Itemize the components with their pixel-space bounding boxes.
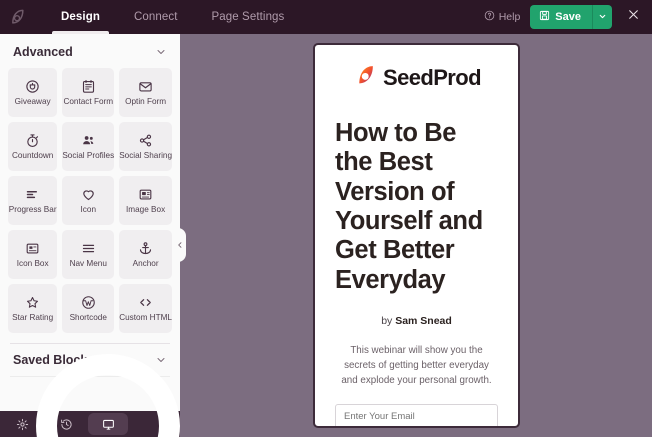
tab-page-settings[interactable]: Page Settings bbox=[195, 0, 302, 34]
section-saved-blocks-header[interactable]: Saved Blocks bbox=[0, 344, 180, 376]
gear-settings-icon[interactable] bbox=[0, 411, 44, 437]
block-label: Icon bbox=[81, 206, 96, 214]
seedprod-leaf-logo-icon[interactable] bbox=[0, 0, 34, 34]
top-toolbar: Design Connect Page Settings Help bbox=[0, 0, 652, 34]
byline-author: Sam Snead bbox=[395, 315, 452, 327]
block-label: Star Rating bbox=[12, 314, 53, 322]
chevron-down-icon bbox=[598, 8, 607, 26]
seedprod-leaf-gradient-icon bbox=[352, 63, 377, 93]
main-tabs: Design Connect Page Settings bbox=[44, 0, 301, 34]
close-builder-button[interactable] bbox=[622, 4, 644, 30]
contact-form-icon bbox=[81, 79, 96, 94]
star-icon bbox=[25, 295, 40, 310]
tab-page-settings-label: Page Settings bbox=[212, 11, 285, 23]
anchor-icon bbox=[138, 241, 153, 256]
block-label: Social Profiles bbox=[62, 152, 114, 160]
byline-prefix: by bbox=[381, 315, 395, 327]
share-icon bbox=[138, 133, 153, 148]
tab-connect[interactable]: Connect bbox=[117, 0, 195, 34]
help-label: Help bbox=[499, 11, 521, 23]
desktop-view-icon[interactable] bbox=[88, 413, 128, 435]
block-label: Image Box bbox=[126, 206, 165, 214]
save-button[interactable]: Save bbox=[530, 5, 592, 29]
section-advanced-header[interactable]: Advanced bbox=[0, 34, 180, 68]
toolbar-actions: Help Save bbox=[484, 0, 652, 34]
tab-design-label: Design bbox=[61, 11, 100, 23]
block-label: Countdown bbox=[12, 152, 53, 160]
block-label: Optin Form bbox=[125, 98, 166, 106]
block-image-box[interactable]: Image Box bbox=[119, 176, 172, 225]
preview-subcopy[interactable]: This webinar will show you the secrets o… bbox=[335, 343, 498, 389]
block-social-sharing[interactable]: Social Sharing bbox=[119, 122, 172, 171]
image-box-icon bbox=[138, 187, 153, 202]
block-label: Nav Menu bbox=[70, 260, 107, 268]
advanced-blocks-grid: Giveaway Contact Form bbox=[0, 68, 180, 333]
tab-connect-label: Connect bbox=[134, 11, 178, 23]
saved-blocks-separator bbox=[10, 376, 170, 377]
block-label: Contact Form bbox=[63, 98, 113, 106]
block-shortcode[interactable]: Shortcode bbox=[62, 284, 114, 333]
progress-bar-icon bbox=[25, 187, 40, 202]
block-custom-html[interactable]: Custom HTML bbox=[119, 284, 172, 333]
section-advanced-title: Advanced bbox=[13, 45, 73, 59]
close-x-icon bbox=[627, 8, 640, 26]
sidebar-collapse-handle[interactable] bbox=[173, 228, 186, 262]
chevron-down-icon[interactable] bbox=[155, 354, 167, 366]
block-nav-menu[interactable]: Nav Menu bbox=[62, 230, 114, 279]
save-disk-icon bbox=[539, 10, 550, 24]
chevron-down-icon[interactable] bbox=[155, 46, 167, 58]
preview-canvas[interactable]: SeedProd How to Be the Best Version of Y… bbox=[180, 34, 652, 437]
heart-icon bbox=[81, 187, 96, 202]
save-label: Save bbox=[555, 11, 581, 23]
stopwatch-icon bbox=[25, 133, 40, 148]
preview-byline[interactable]: by Sam Snead bbox=[335, 315, 498, 327]
save-dropdown-toggle[interactable] bbox=[592, 5, 612, 29]
block-label: Giveaway bbox=[15, 98, 51, 106]
block-progress-bar[interactable]: Progress Bar bbox=[8, 176, 57, 225]
section-saved-blocks-title: Saved Blocks bbox=[13, 353, 94, 367]
help-button[interactable]: Help bbox=[484, 10, 521, 24]
revisions-icon[interactable] bbox=[44, 411, 88, 437]
save-button-group: Save bbox=[530, 5, 612, 29]
block-label: Shortcode bbox=[70, 314, 107, 322]
hamburger-menu-icon bbox=[81, 241, 96, 256]
seedprod-page-builder: Design Connect Page Settings Help bbox=[0, 0, 652, 437]
sidebar-bottom-bar bbox=[0, 411, 180, 437]
chevron-left-icon bbox=[176, 236, 184, 254]
wordpress-icon bbox=[81, 295, 96, 310]
envelope-icon bbox=[138, 79, 153, 94]
icon-box-icon bbox=[25, 241, 40, 256]
preview-logo: SeedProd bbox=[335, 63, 498, 93]
block-label: Icon Box bbox=[17, 260, 49, 268]
landing-page-preview[interactable]: SeedProd How to Be the Best Version of Y… bbox=[313, 43, 520, 428]
people-icon bbox=[81, 133, 96, 148]
preview-logo-text: SeedProd bbox=[383, 65, 481, 91]
block-label: Progress Bar bbox=[9, 206, 57, 214]
block-anchor[interactable]: Anchor bbox=[119, 230, 172, 279]
block-countdown[interactable]: Countdown bbox=[8, 122, 57, 171]
help-circle-icon bbox=[484, 10, 495, 24]
block-icon-box[interactable]: Icon Box bbox=[8, 230, 57, 279]
tab-design[interactable]: Design bbox=[44, 0, 117, 34]
block-label: Anchor bbox=[133, 260, 159, 268]
email-field[interactable] bbox=[335, 404, 498, 428]
preview-headline[interactable]: How to Be the Best Version of Yourself a… bbox=[335, 119, 498, 295]
block-label: Social Sharing bbox=[119, 152, 172, 160]
block-optin-form[interactable]: Optin Form bbox=[119, 68, 172, 117]
blocks-sidebar: Advanced Giveaway bbox=[0, 34, 180, 437]
giveaway-icon bbox=[25, 79, 40, 94]
block-giveaway[interactable]: Giveaway bbox=[8, 68, 57, 117]
block-label: Custom HTML bbox=[119, 314, 172, 322]
block-contact-form[interactable]: Contact Form bbox=[62, 68, 114, 117]
code-brackets-icon bbox=[138, 295, 153, 310]
block-social-profiles[interactable]: Social Profiles bbox=[62, 122, 114, 171]
block-icon[interactable]: Icon bbox=[62, 176, 114, 225]
block-star-rating[interactable]: Star Rating bbox=[8, 284, 57, 333]
